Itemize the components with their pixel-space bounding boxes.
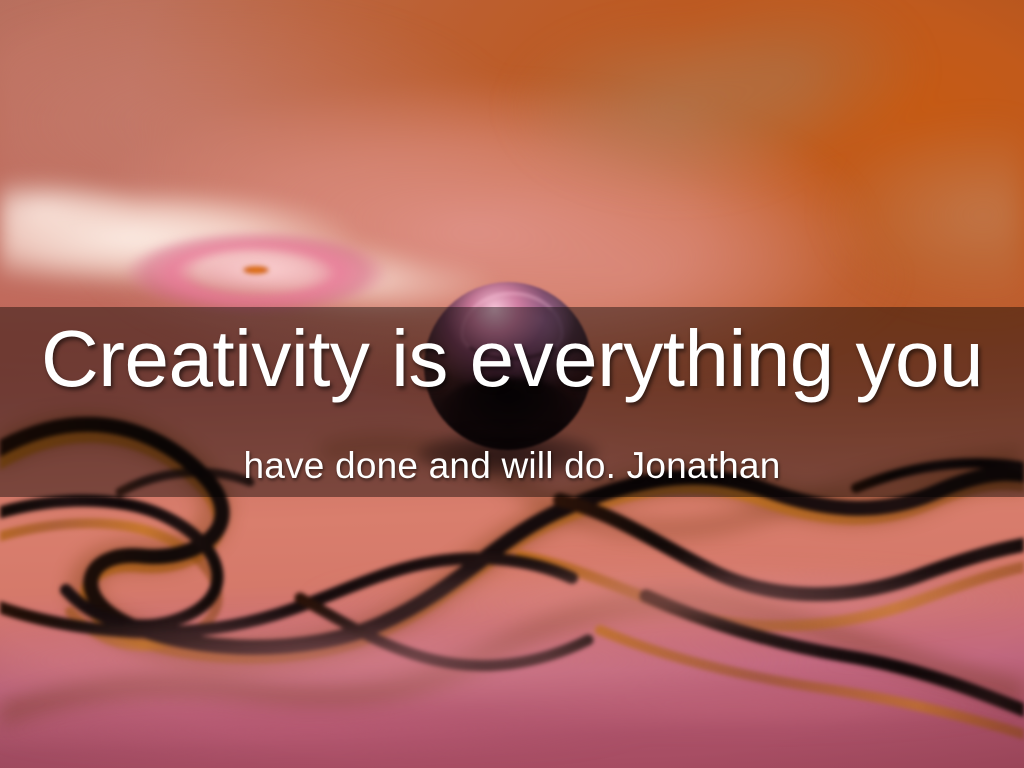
slide-headline: Creativity is everything you	[0, 319, 1024, 399]
slide-subline: have done and will do. Jonathan	[0, 447, 1024, 484]
presentation-slide: Creativity is everything you have done a…	[0, 0, 1024, 768]
